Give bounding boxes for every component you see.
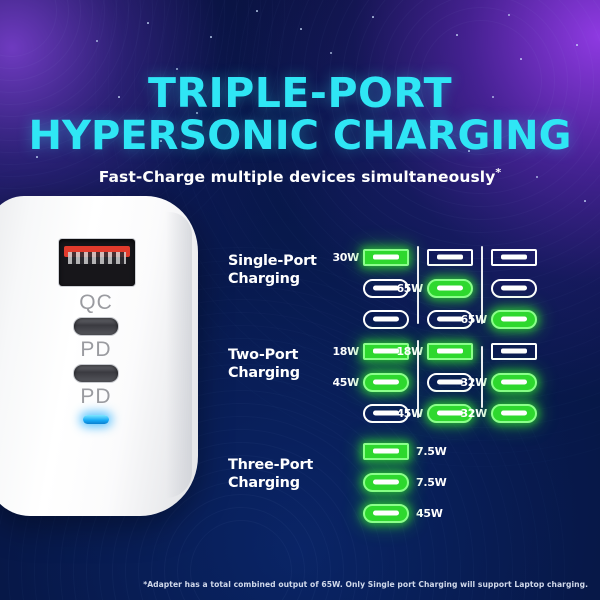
port-inner-bar bbox=[373, 255, 399, 260]
usb-a-port-on-icon bbox=[363, 249, 409, 266]
title-line-1: TRIPLE-PORT bbox=[148, 69, 452, 117]
usb-c-port-on-icon bbox=[491, 373, 537, 392]
port-cell bbox=[491, 277, 537, 299]
column-divider bbox=[481, 346, 483, 408]
port-inner-bar bbox=[501, 411, 527, 416]
usb-c-port-on-icon bbox=[363, 373, 409, 392]
port-cell bbox=[491, 340, 537, 362]
wattage-label: 45W bbox=[331, 376, 359, 389]
port-cell bbox=[427, 246, 473, 268]
row-label-line-1: Two-Port bbox=[228, 346, 340, 364]
row-label-line-2: Charging bbox=[228, 474, 340, 492]
title-line-2: HYPERSONIC CHARGING bbox=[0, 115, 600, 158]
port-cell: 32W bbox=[459, 402, 537, 424]
column-divider bbox=[417, 246, 419, 324]
port-cell: 32W bbox=[459, 371, 537, 393]
usb-c-port-on-icon bbox=[491, 404, 537, 423]
wattage-label: 32W bbox=[459, 407, 487, 420]
port-inner-bar bbox=[373, 480, 399, 485]
page-title: TRIPLE-PORT HYPERSONIC CHARGING bbox=[0, 72, 600, 158]
subtitle-asterisk: * bbox=[495, 166, 501, 179]
column-divider bbox=[417, 340, 419, 418]
usb-a-port-off-icon bbox=[491, 249, 537, 266]
page-subtitle: Fast-Charge multiple devices simultaneou… bbox=[0, 166, 600, 186]
usb-c-port-off-icon bbox=[491, 279, 537, 298]
footnote: *Adapter has a total combined output of … bbox=[143, 580, 588, 589]
port-cell bbox=[491, 246, 537, 268]
port-inner-bar bbox=[501, 349, 527, 354]
subtitle-text: Fast-Charge multiple devices simultaneou… bbox=[99, 168, 496, 186]
port-inner-bar bbox=[437, 286, 463, 291]
row-label-two-port: Two-PortCharging bbox=[228, 346, 340, 382]
port-cell: 7.5W bbox=[363, 471, 446, 493]
usb-c-port-on-icon bbox=[427, 279, 473, 298]
port-inner-bar bbox=[501, 255, 527, 260]
port-inner-bar bbox=[373, 317, 399, 322]
wattage-label: 18W bbox=[331, 345, 359, 358]
charging-matrix: Single-PortCharging30W65W65WTwo-PortChar… bbox=[0, 228, 600, 538]
row-label-line-1: Three-Port bbox=[228, 456, 340, 474]
usb-c-port-on-icon bbox=[363, 473, 409, 492]
port-cell: 45W bbox=[331, 371, 409, 393]
usb-c-port-off-icon bbox=[363, 310, 409, 329]
row-label-three-port: Three-PortCharging bbox=[228, 456, 340, 492]
port-inner-bar bbox=[373, 511, 399, 516]
wattage-label: 30W bbox=[331, 251, 359, 264]
row-label-line-2: Charging bbox=[228, 270, 340, 288]
column-divider bbox=[481, 246, 483, 324]
usb-a-port-off-icon bbox=[491, 343, 537, 360]
usb-a-port-on-icon bbox=[363, 443, 409, 460]
port-cell: 65W bbox=[395, 277, 473, 299]
wattage-label: 45W bbox=[416, 507, 443, 520]
port-cell: 7.5W bbox=[363, 440, 446, 462]
wattage-label: 7.5W bbox=[416, 476, 446, 489]
wattage-label: 7.5W bbox=[416, 445, 446, 458]
port-inner-bar bbox=[501, 380, 527, 385]
port-inner-bar bbox=[373, 449, 399, 454]
promo-banner: TRIPLE-PORT HYPERSONIC CHARGING Fast-Cha… bbox=[0, 0, 600, 600]
port-inner-bar bbox=[501, 317, 527, 322]
port-cell: 45W bbox=[363, 502, 443, 524]
usb-c-port-on-icon bbox=[491, 310, 537, 329]
usb-a-port-off-icon bbox=[427, 249, 473, 266]
port-inner-bar bbox=[501, 286, 527, 291]
row-label-single-port: Single-PortCharging bbox=[228, 252, 340, 288]
row-label-line-2: Charging bbox=[228, 364, 340, 382]
usb-a-port-on-icon bbox=[427, 343, 473, 360]
port-inner-bar bbox=[373, 380, 399, 385]
port-cell: 18W bbox=[395, 340, 473, 362]
port-inner-bar bbox=[437, 349, 463, 354]
row-label-line-1: Single-Port bbox=[228, 252, 340, 270]
port-inner-bar bbox=[437, 255, 463, 260]
port-cell: 30W bbox=[331, 246, 409, 268]
port-cell bbox=[363, 308, 409, 330]
usb-c-port-on-icon bbox=[363, 504, 409, 523]
port-cell: 65W bbox=[459, 308, 537, 330]
